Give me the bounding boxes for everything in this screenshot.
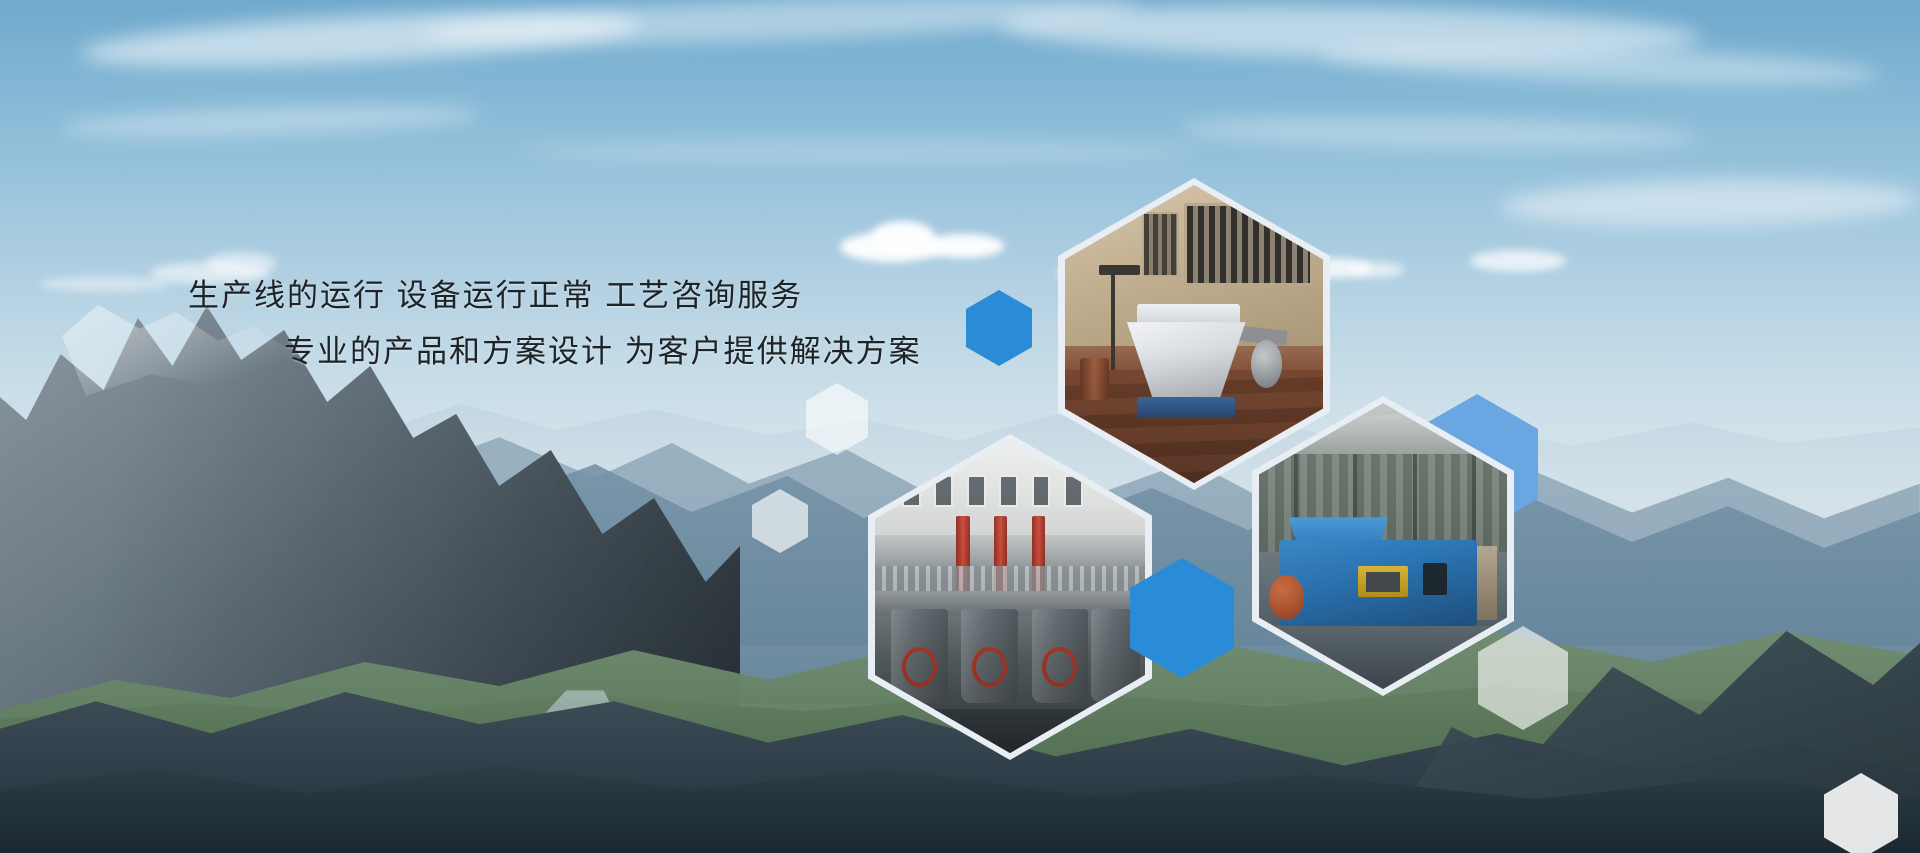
cloud-puff-icon	[40, 276, 170, 292]
blue-shredder-image	[1259, 403, 1507, 689]
cloud-puff-icon	[924, 234, 1004, 258]
cloud-puff-icon	[1470, 250, 1566, 272]
hero-banner: 生产线的运行 设备运行正常 工艺咨询服务 专业的产品和方案设计 为客户提供解决方…	[0, 0, 1920, 853]
headline-line-1: 生产线的运行 设备运行正常 工艺咨询服务	[188, 268, 948, 324]
headline-line-2: 专业的产品和方案设计 为客户提供解决方案	[188, 324, 948, 380]
cloud-puff-icon	[1350, 262, 1404, 278]
headline-block: 生产线的运行 设备运行正常 工艺咨询服务 专业的产品和方案设计 为客户提供解决方…	[188, 268, 948, 380]
photo-vignette	[1259, 403, 1507, 689]
photo-hex-inner	[1259, 403, 1507, 689]
